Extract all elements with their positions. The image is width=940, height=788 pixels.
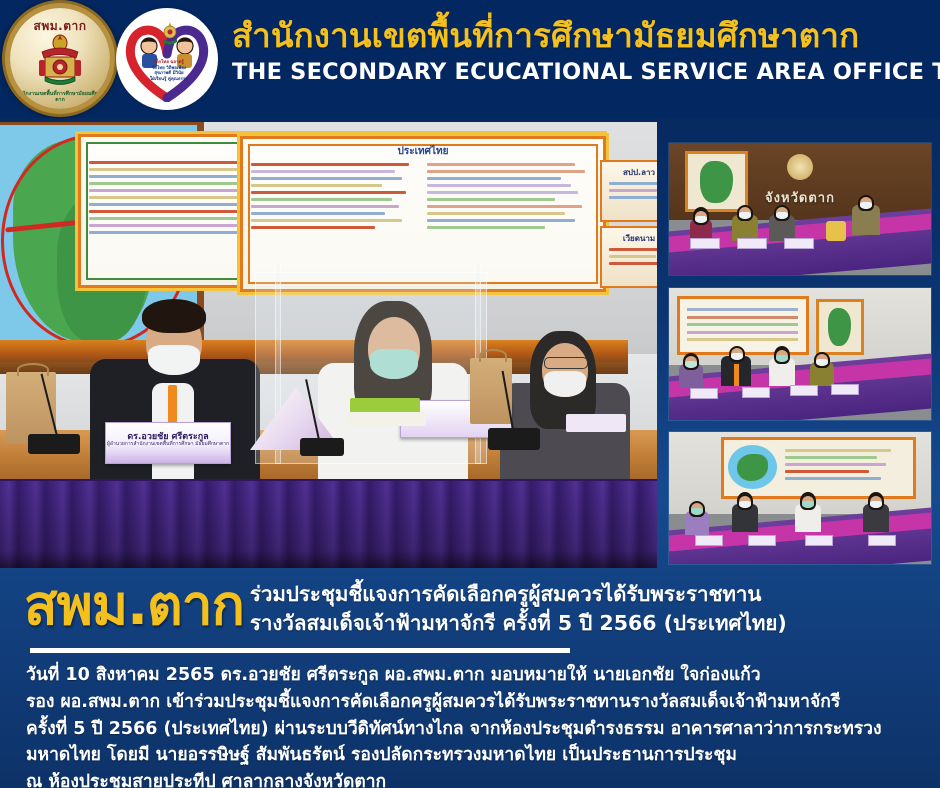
caption-body: วันที่ 10 สิงหาคม 2565 ดร.อวยชัย ศรีตระก…: [26, 662, 921, 788]
box-title-vietnam: เวียดนาม: [602, 232, 657, 245]
caption-block: สพม.ตาก ร่วมประชุมชี้แจงการคัดเลือกครูผู…: [0, 570, 940, 788]
attendee: [810, 350, 834, 386]
news-banner-page: สพม.ตาก สำนักงานเขตพื้นที่การศึกษามัธยมศ…: [0, 0, 940, 788]
attendee: [732, 492, 758, 532]
page-header: สพม.ตาก สำนักงานเขตพื้นที่การศึกษามัธยมศ…: [0, 0, 940, 118]
attendee-white: [769, 346, 795, 386]
caption-body-line-5: ณ ห้องประชุมสายประทีป ศาลากลางจังหวัดตาก: [26, 769, 921, 788]
seal-arc-bottom-text: สำนักงานเขตพื้นที่การศึกษามัธยมศึกษาตาก: [14, 92, 106, 104]
microphone-base: [488, 428, 540, 450]
document-stack: [566, 414, 626, 432]
photo-bottom-vignette: [0, 550, 657, 568]
header-thai-title: สำนักงานเขตพื้นที่การศึกษามัธยมศึกษาตาก: [232, 16, 932, 56]
board-column-left: [251, 163, 419, 233]
attendee: [685, 499, 709, 535]
eyeglasses: [544, 357, 588, 369]
wall-info-box-vietnam: เวียดนาม: [600, 226, 657, 288]
side-photo-meeting-row: [669, 288, 931, 420]
nameplate-director: ดร.อวยชัย ศรีตระกูล ผู้อำนวยการสำนักงานเ…: [105, 422, 231, 464]
heart-logo-caption: เด็กไทย ฉลาดรู้ วิถีไทย วิถีพอเพียง สุขภ…: [142, 60, 196, 82]
caption-body-line-1: วันที่ 10 สิงหาคม 2565 ดร.อวยชัย ศรีตระก…: [26, 662, 921, 689]
caption-headline-row: สพม.ตาก ร่วมประชุมชี้แจงการคัดเลือกครูผู…: [24, 578, 787, 638]
microphone-base: [28, 434, 80, 454]
flower-vase: [826, 221, 846, 241]
photo-collage: สหภาพพม่า ประเทศไทย: [0, 120, 940, 570]
wall-map-small: [816, 299, 864, 355]
royal-crest-icon: [160, 22, 180, 48]
attendee: [679, 352, 703, 388]
person-woman-glasses: [500, 329, 630, 479]
thai-student-heart-logo: เด็กไทย ฉลาดรู้ วิถีไทย วิถีพอเพียง สุขภ…: [116, 8, 218, 110]
caption-brand: สพม.ตาก: [24, 578, 244, 633]
caption-headline-line-2: รางวัลสมเด็จเจ้าฟ้ามหาจักรี ครั้งที่ 5 ป…: [250, 609, 787, 638]
nameplate-position: ผู้อำนวยการสำนักงานเขตพื้นที่การศึกษา มั…: [106, 441, 230, 447]
wall-info-board: [721, 437, 916, 498]
board-text-columns: [251, 163, 595, 233]
spm-tak-seal-logo: สพม.ตาก สำนักงานเขตพื้นที่การศึกษามัธยมศ…: [10, 8, 110, 109]
globe-icon: [728, 445, 777, 489]
attendee-suit: [721, 344, 751, 386]
province-crest-icon: [787, 154, 813, 180]
microphone-base: [300, 438, 344, 456]
side-photo-provincial-hall: จังหวัดตาก: [669, 143, 931, 275]
header-titles: สำนักงานเขตพื้นที่การศึกษามัธยมศึกษาตาก …: [232, 16, 932, 86]
attendee: [863, 492, 889, 532]
paper-stack: [348, 412, 426, 426]
caption-divider-rule: [30, 648, 570, 653]
header-english-title: THE SECONDARY ECUCATIONAL SERVICE AREA O…: [232, 59, 932, 86]
attendee: [732, 203, 758, 241]
attendee: [690, 207, 712, 241]
caption-body-line-2: รอง ผอ.สพม.ตาก เข้าร่วมประชุมชี้แจงการคั…: [26, 689, 921, 716]
caption-headline-line-1: ร่วมประชุมชี้แจงการคัดเลือกครูผู้สมควรได…: [250, 580, 787, 609]
caption-headline: ร่วมประชุมชี้แจงการคัดเลือกครูผู้สมควรได…: [250, 578, 787, 638]
presenter: [852, 193, 880, 235]
garuda-emblem-icon: [32, 34, 88, 90]
side-photo-participants: [669, 432, 931, 564]
heart-caption-line-4: ใฝ่เรียนรู้ คู่คุณธรรม: [142, 77, 196, 83]
board-column-right: [427, 163, 595, 233]
board-title-thailand: ประเทศไทย: [243, 144, 603, 159]
attendee: [769, 203, 795, 241]
caption-body-line-4: มหาดไทย โดยมี นายอรรษิษฐ์ สัมพันธรัตน์ ร…: [26, 742, 921, 769]
main-meeting-photo: สหภาพพม่า ประเทศไทย: [0, 122, 657, 568]
caption-body-line-3: ครั้งที่ 5 ปี 2566 (ประเทศไทย) ผ่านระบบว…: [26, 716, 921, 743]
wall-info-board-thailand: ประเทศไทย: [240, 136, 606, 292]
attendee-white: [795, 492, 821, 532]
box-title-laos: สปป.ลาว: [602, 166, 657, 179]
wall-info-box-laos: สปป.ลาว: [600, 160, 657, 222]
